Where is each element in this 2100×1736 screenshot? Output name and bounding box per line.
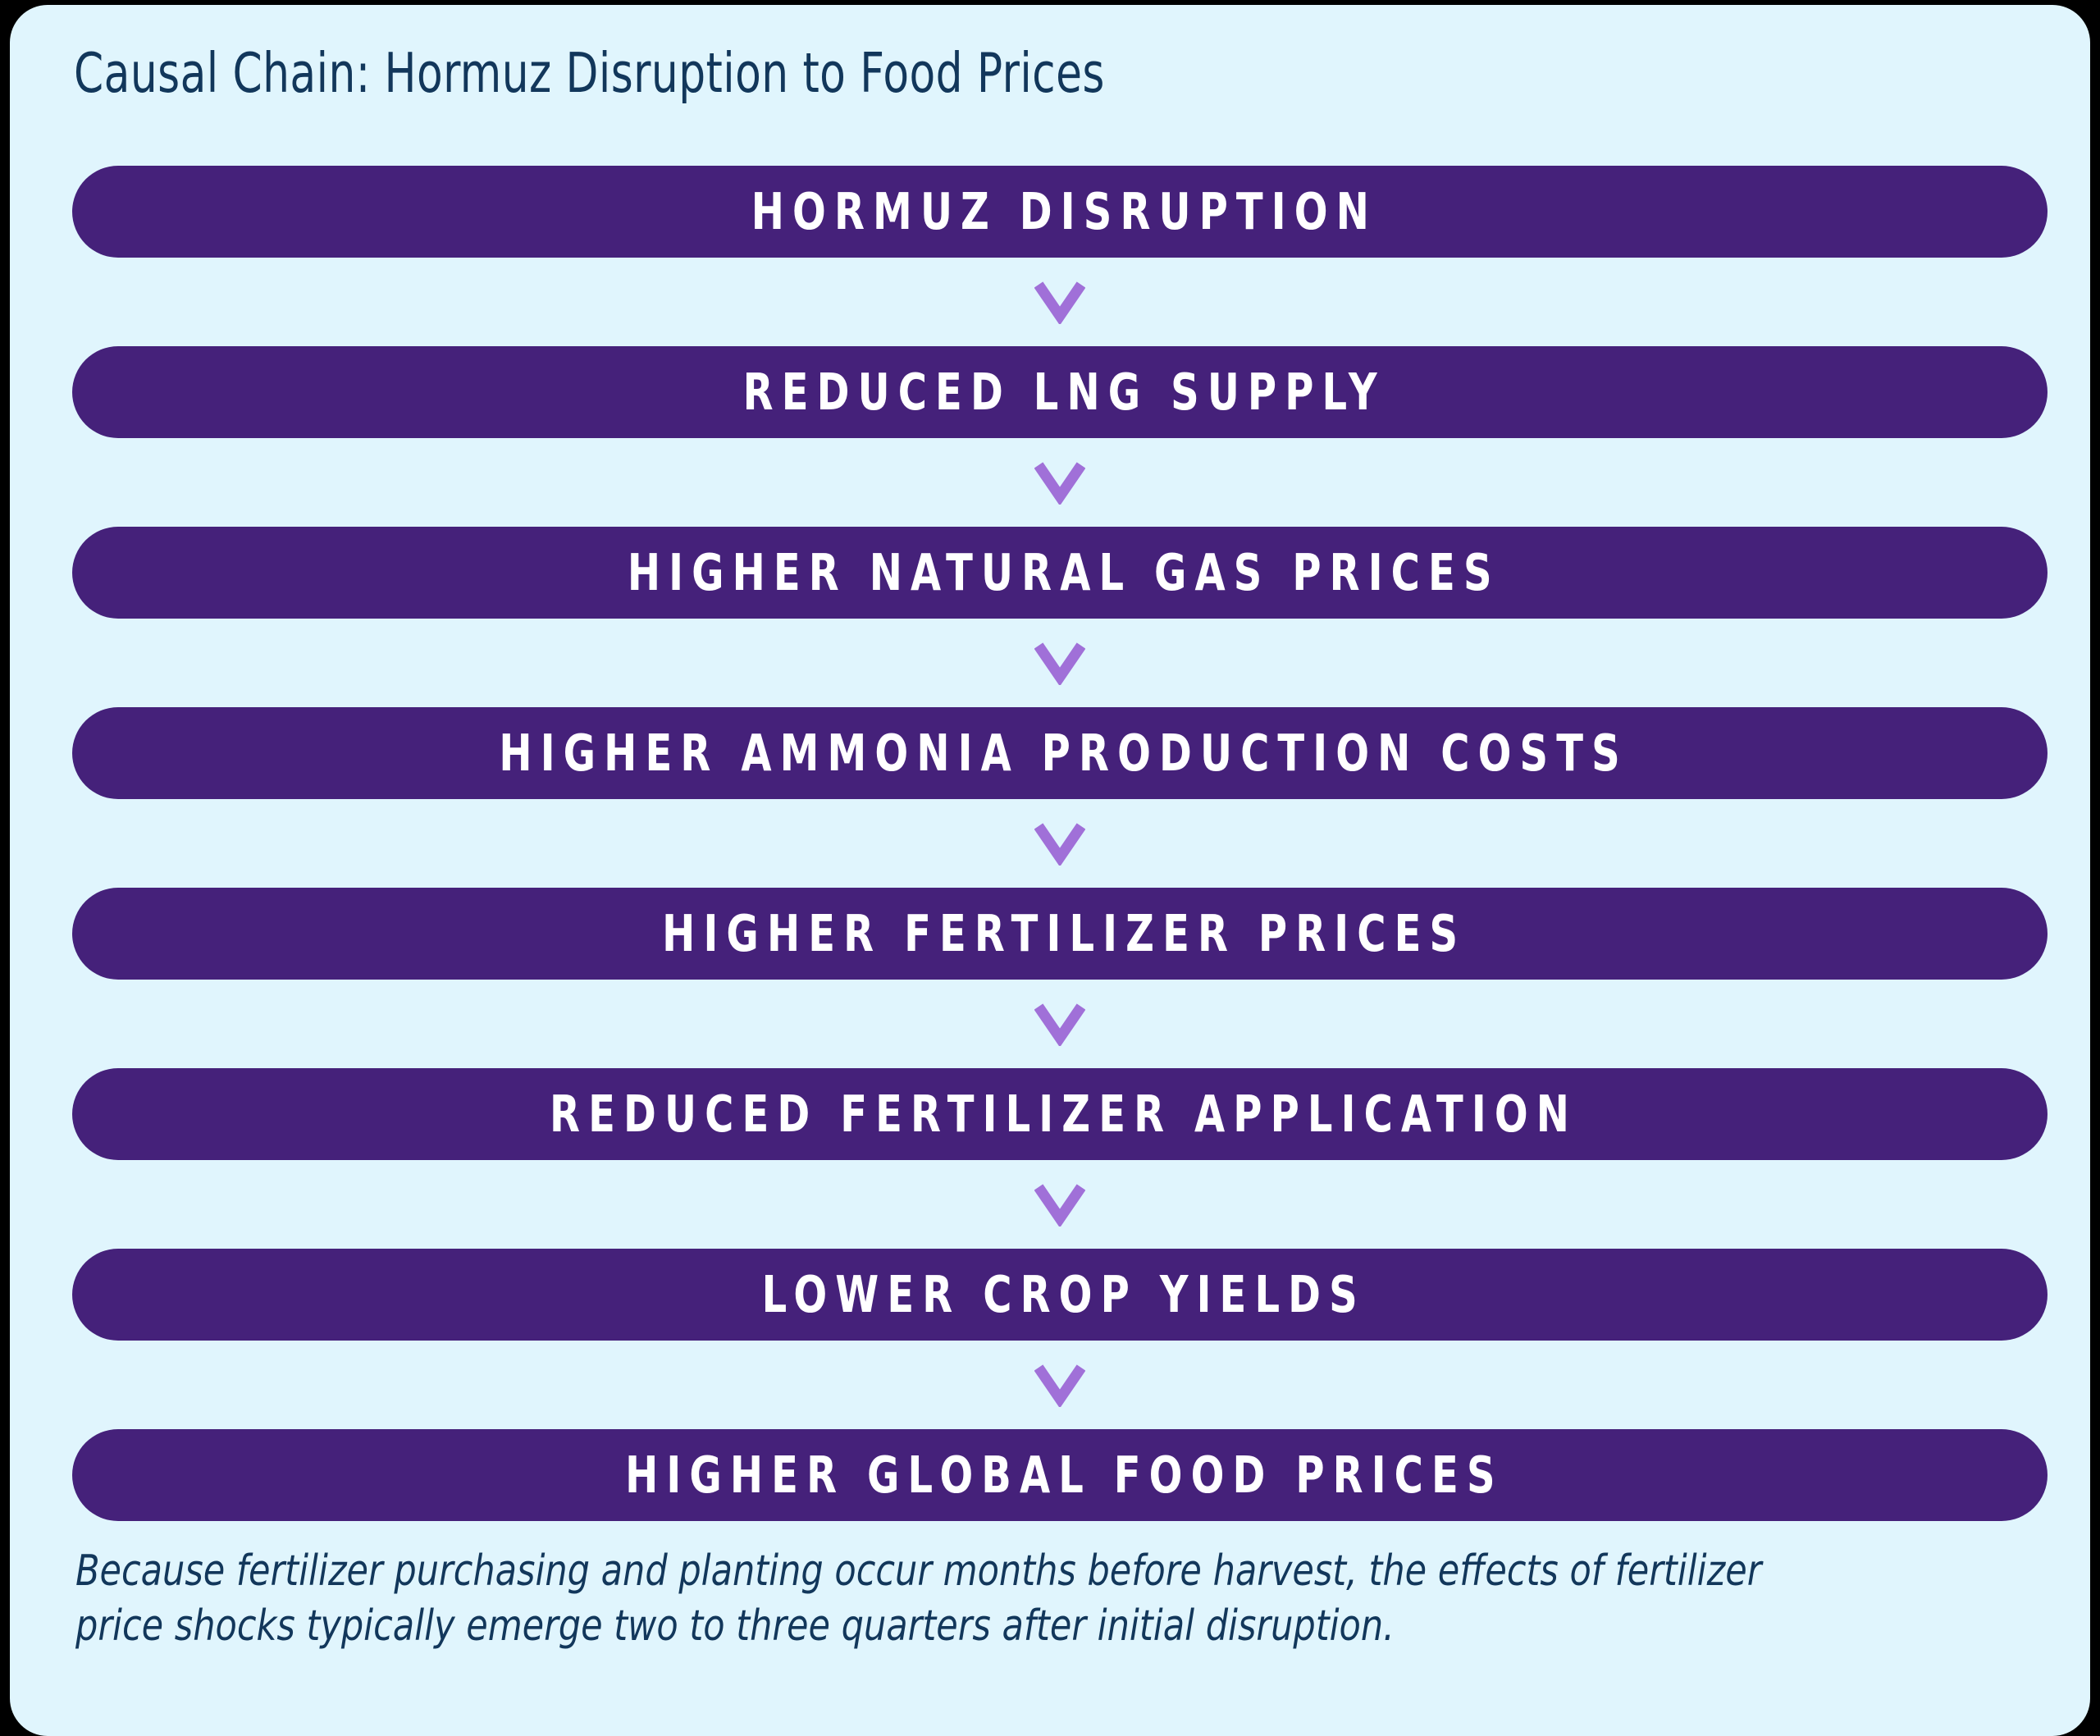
figure-panel: Causal Chain: Hormuz Disruption to Food …	[10, 5, 2090, 1736]
connector-7	[10, 1341, 2100, 1429]
chain-row: LOWER CROP YIELDS	[10, 1249, 2100, 1341]
flow-node-hormuz-disruption[interactable]: HORMUZ DISRUPTION	[72, 166, 2047, 258]
connector-1	[10, 258, 2100, 346]
chain-row: REDUCED FERTILIZER APPLICATION	[10, 1068, 2100, 1160]
connector-6	[10, 1160, 2100, 1249]
chain-row: HIGHER FERTILIZER PRICES	[10, 888, 2100, 980]
chain-row: HIGHER GLOBAL FOOD PRICES	[10, 1429, 2100, 1521]
flow-node-lower-crop-yields[interactable]: LOWER CROP YIELDS	[72, 1249, 2047, 1341]
connector-4	[10, 799, 2100, 888]
chevron-down-icon	[1034, 821, 1085, 866]
flow-node-reduced-fertilizer-application[interactable]: REDUCED FERTILIZER APPLICATION	[72, 1068, 2047, 1160]
connector-2	[10, 438, 2100, 527]
flow-node-label: HIGHER FERTILIZER PRICES	[654, 904, 1466, 963]
flow-node-label: REDUCED FERTILIZER APPLICATION	[541, 1085, 1577, 1144]
figure-footnote: Because fertilizer purchasing and planti…	[75, 1544, 1901, 1653]
chevron-down-icon	[1034, 280, 1085, 324]
flow-node-label: HIGHER GLOBAL FOOD PRICES	[617, 1446, 1504, 1505]
chain-row: HORMUZ DISRUPTION	[10, 166, 2100, 258]
figure-canvas: Causal Chain: Hormuz Disruption to Food …	[0, 0, 2100, 1723]
chevron-down-icon	[1034, 1363, 1085, 1407]
flow-node-label: LOWER CROP YIELDS	[754, 1265, 1366, 1324]
flow-node-label: HIGHER AMMONIA PRODUCTION COSTS	[491, 724, 1629, 783]
flow-node-label: REDUCED LNG SUPPLY	[734, 363, 1385, 422]
flow-node-reduced-lng-supply[interactable]: REDUCED LNG SUPPLY	[72, 346, 2047, 438]
footnote-line-1: Because fertilizer purchasing and planti…	[75, 1544, 1901, 1599]
chevron-down-icon	[1034, 641, 1085, 685]
chevron-down-icon	[1034, 1182, 1085, 1227]
footnote-line-2: price shocks typically emerge two to thr…	[75, 1599, 1901, 1654]
causal-chain-flow: HORMUZ DISRUPTION REDUCED LNG SUPPLY	[10, 166, 2100, 1521]
flow-node-higher-global-food-prices[interactable]: HIGHER GLOBAL FOOD PRICES	[72, 1429, 2047, 1521]
page-title: Causal Chain: Hormuz Disruption to Food …	[74, 41, 1105, 105]
chain-row: HIGHER AMMONIA PRODUCTION COSTS	[10, 707, 2100, 799]
flow-node-higher-ammonia-production-costs[interactable]: HIGHER AMMONIA PRODUCTION COSTS	[72, 707, 2047, 799]
flow-node-label: HORMUZ DISRUPTION	[742, 182, 1376, 241]
connector-5	[10, 980, 2100, 1068]
connector-3	[10, 619, 2100, 707]
chevron-down-icon	[1034, 460, 1085, 505]
chain-row: REDUCED LNG SUPPLY	[10, 346, 2100, 438]
chain-row: HIGHER NATURAL GAS PRICES	[10, 527, 2100, 619]
flow-node-label: HIGHER NATURAL GAS PRICES	[619, 543, 1500, 602]
flow-node-higher-natural-gas-prices[interactable]: HIGHER NATURAL GAS PRICES	[72, 527, 2047, 619]
flow-node-higher-fertilizer-prices[interactable]: HIGHER FERTILIZER PRICES	[72, 888, 2047, 980]
chevron-down-icon	[1034, 1002, 1085, 1046]
